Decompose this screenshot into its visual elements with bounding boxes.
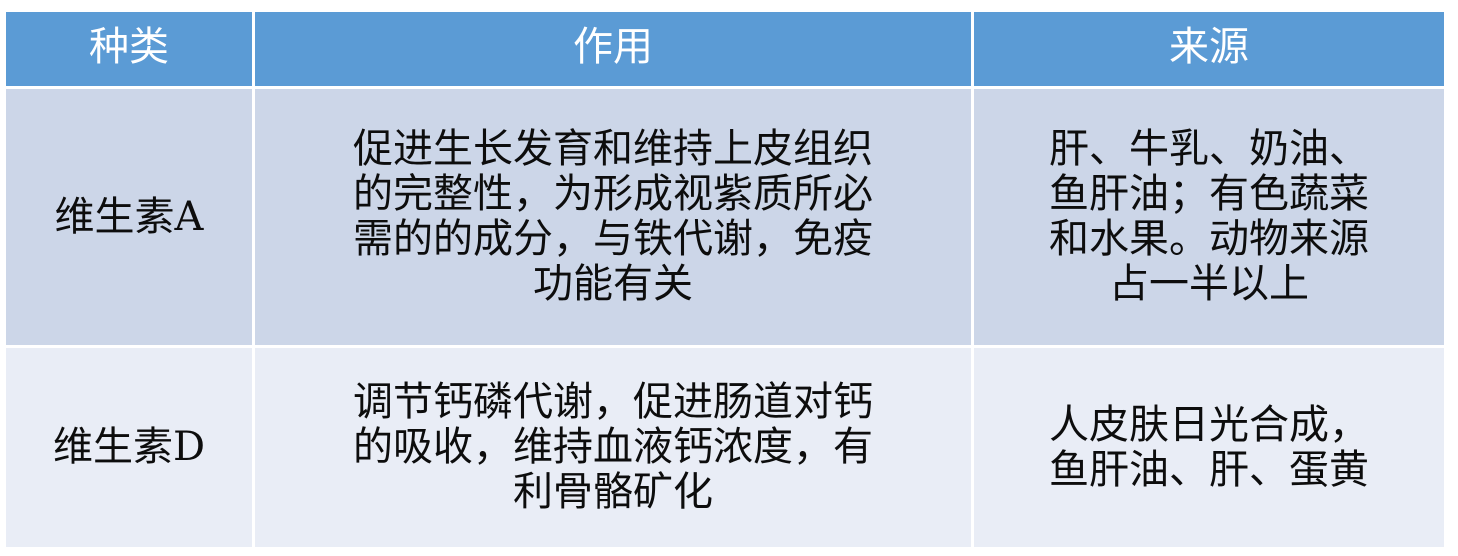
text-line: 功能有关 bbox=[263, 262, 963, 307]
vitamin-table: 种类 作用 来源 维生素A 促进生长发育和维持上皮组织 的完整性，为形成视紫质所… bbox=[3, 9, 1447, 550]
text-line: 调节钙磷代谢，促进肠道对钙 bbox=[263, 380, 963, 425]
column-header-category: 种类 bbox=[6, 12, 252, 86]
column-header-function: 作用 bbox=[255, 12, 971, 86]
vitamin-table-container: 种类 作用 来源 维生素A 促进生长发育和维持上皮组织 的完整性，为形成视紫质所… bbox=[6, 12, 1450, 535]
cell-vitamin-name: 维生素A bbox=[6, 89, 252, 345]
text-line: 鱼肝油；有色蔬菜 bbox=[982, 172, 1436, 217]
table-row: 维生素A 促进生长发育和维持上皮组织 的完整性，为形成视紫质所必 需的的成分，与… bbox=[6, 89, 1444, 345]
text-line: 占一半以上 bbox=[982, 262, 1436, 307]
cell-vitamin-name: 维生素D bbox=[6, 348, 252, 547]
text-line: 的吸收，维持血液钙浓度，有 bbox=[263, 425, 963, 470]
text-line: 和水果。动物来源 bbox=[982, 217, 1436, 262]
header-row: 种类 作用 来源 bbox=[6, 12, 1444, 86]
table-row: 维生素D 调节钙磷代谢，促进肠道对钙 的吸收，维持血液钙浓度，有 利骨骼矿化 人… bbox=[6, 348, 1444, 547]
cell-vitamin-function: 调节钙磷代谢，促进肠道对钙 的吸收，维持血液钙浓度，有 利骨骼矿化 bbox=[255, 348, 971, 547]
text-line: 人皮肤日光合成， bbox=[982, 403, 1436, 448]
text-line: 鱼肝油、肝、蛋黄 bbox=[982, 448, 1436, 493]
cell-vitamin-source: 肝、牛乳、奶油、 鱼肝油；有色蔬菜 和水果。动物来源 占一半以上 bbox=[974, 89, 1444, 345]
table-header: 种类 作用 来源 bbox=[6, 12, 1444, 86]
cell-vitamin-function: 促进生长发育和维持上皮组织 的完整性，为形成视紫质所必 需的的成分，与铁代谢，免… bbox=[255, 89, 971, 345]
text-line: 需的的成分，与铁代谢，免疫 bbox=[263, 217, 963, 262]
table-body: 维生素A 促进生长发育和维持上皮组织 的完整性，为形成视紫质所必 需的的成分，与… bbox=[6, 89, 1444, 547]
text-line: 的完整性，为形成视紫质所必 bbox=[263, 172, 963, 217]
text-line: 利骨骼矿化 bbox=[263, 470, 963, 515]
cell-vitamin-source: 人皮肤日光合成， 鱼肝油、肝、蛋黄 bbox=[974, 348, 1444, 547]
text-line: 促进生长发育和维持上皮组织 bbox=[263, 127, 963, 172]
column-header-source: 来源 bbox=[974, 12, 1444, 86]
text-line: 肝、牛乳、奶油、 bbox=[982, 127, 1436, 172]
